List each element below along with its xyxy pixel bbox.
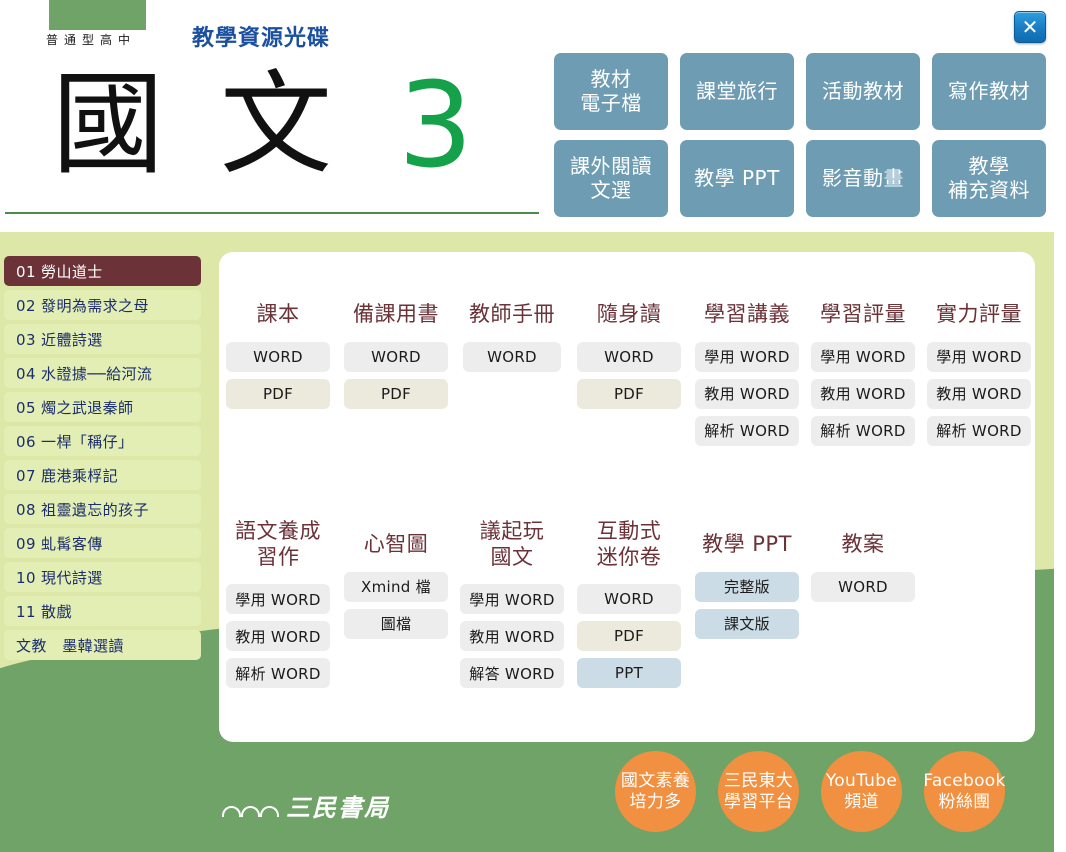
column-buttons: WORD	[805, 572, 921, 602]
file-button-word[interactable]: 解析 WORD	[811, 416, 915, 446]
resource-column-row1-6: 學習評量學用 WORD教用 WORD解析 WORD	[805, 302, 921, 446]
file-button-word[interactable]: WORD	[463, 342, 561, 372]
brand-subtitle: 普通型高中	[46, 31, 150, 48]
resource-column-row1-5: 學習講義學用 WORD教用 WORD解析 WORD	[689, 302, 805, 446]
topnav-button-4[interactable]: 寫作教材	[932, 53, 1046, 130]
file-button-word[interactable]: Xmind 檔	[344, 572, 448, 602]
column-buttons: 學用 WORD教用 WORD解析 WORD	[689, 342, 805, 446]
file-button-pdf[interactable]: PDF	[344, 379, 448, 409]
topnav-button-5[interactable]: 課外閱讀 文選	[554, 140, 668, 217]
topnav-button-2[interactable]: 課堂旅行	[680, 53, 794, 130]
resource-column-row2-2: 心智圖Xmind 檔圖檔	[337, 532, 455, 688]
file-button-word[interactable]: 解析 WORD	[226, 658, 330, 688]
file-button-ppt[interactable]: 完整版	[695, 572, 799, 602]
lesson-sidebar: 01 勞山道士02 發明為需求之母03 近體詩選04 水證據──給河流05 燭之…	[4, 256, 201, 664]
resource-column-row1-7: 實力評量學用 WORD教用 WORD解析 WORD	[921, 302, 1037, 446]
subject-volume-number: 3	[398, 66, 473, 184]
column-buttons: 學用 WORD教用 WORD解答 WORD	[455, 584, 569, 688]
sidebar-item-9[interactable]: 09 虬髯客傳	[4, 528, 201, 558]
column-title: 隨身讀	[597, 302, 662, 328]
column-title: 教師手冊	[469, 302, 555, 328]
column-title: 議起玩 國文	[480, 519, 545, 570]
file-button-pdf[interactable]: PDF	[577, 621, 681, 651]
sidebar-item-2[interactable]: 02 發明為需求之母	[4, 290, 201, 320]
file-button-word[interactable]: WORD	[811, 572, 915, 602]
topnav-button-8[interactable]: 教學 補充資料	[932, 140, 1046, 217]
file-button-word[interactable]: 教用 WORD	[927, 379, 1031, 409]
file-button-word[interactable]: WORD	[577, 342, 681, 372]
column-buttons: 完整版課文版	[689, 572, 805, 639]
column-title: 教案	[842, 532, 885, 558]
sidebar-item-10[interactable]: 10 現代詩選	[4, 562, 201, 592]
column-title: 語文養成 習作	[235, 519, 321, 570]
file-button-word[interactable]: 學用 WORD	[927, 342, 1031, 372]
sidebar-item-8[interactable]: 08 祖靈遺忘的孩子	[4, 494, 201, 524]
resource-column-row2-6: 教案WORD	[805, 532, 921, 688]
column-buttons: WORDPDF	[569, 342, 689, 409]
file-button-ppt[interactable]: PPT	[577, 658, 681, 688]
arches-icon	[222, 795, 280, 817]
file-button-word[interactable]: 學用 WORD	[695, 342, 799, 372]
column-title: 互動式 迷你卷	[597, 519, 662, 570]
file-button-word[interactable]: 學用 WORD	[460, 584, 564, 614]
file-button-word[interactable]: 解答 WORD	[460, 658, 564, 688]
file-button-word[interactable]: 教用 WORD	[226, 621, 330, 651]
brand-color-block	[49, 0, 146, 30]
column-title: 學習評量	[820, 302, 906, 328]
subject-char-2: 文	[220, 69, 332, 181]
header: 普通型高中 教學資源光碟 國 文 3 ✕ 教材 電子檔課堂旅行活動教材寫作教材課…	[0, 0, 1066, 232]
column-buttons: Xmind 檔圖檔	[337, 572, 455, 639]
file-button-word[interactable]: WORD	[577, 584, 681, 614]
resource-column-row1-3: 教師手冊WORD	[455, 302, 569, 446]
publisher-name: 三民書局	[286, 788, 390, 823]
file-button-word[interactable]: 學用 WORD	[811, 342, 915, 372]
file-button-word[interactable]: 教用 WORD	[811, 379, 915, 409]
topnav-button-1[interactable]: 教材 電子檔	[554, 53, 668, 130]
column-buttons: WORD	[455, 342, 569, 372]
file-button-word[interactable]: WORD	[226, 342, 330, 372]
resource-row-2: 語文養成 習作學用 WORD教用 WORD解析 WORD心智圖Xmind 檔圖檔…	[219, 532, 921, 688]
column-title: 備課用書	[353, 302, 439, 328]
sidebar-item-6[interactable]: 06 一桿「稱仔」	[4, 426, 201, 456]
close-button[interactable]: ✕	[1014, 11, 1046, 43]
column-title: 心智圖	[364, 532, 429, 558]
resource-row-1: 課本WORDPDF備課用書WORDPDF教師手冊WORD隨身讀WORDPDF學習…	[219, 302, 1037, 446]
close-icon: ✕	[1015, 12, 1045, 42]
sidebar-item-1[interactable]: 01 勞山道士	[4, 256, 201, 286]
file-button-word[interactable]: 解析 WORD	[695, 416, 799, 446]
column-title: 課本	[257, 302, 300, 328]
column-buttons: 學用 WORD教用 WORD解析 WORD	[921, 342, 1037, 446]
resource-column-row2-3: 議起玩 國文學用 WORD教用 WORD解答 WORD	[455, 532, 569, 688]
top-navigation: 教材 電子檔課堂旅行活動教材寫作教材課外閱讀 文選教學 PPT影音動畫教學 補充…	[554, 53, 1046, 217]
file-button-word[interactable]: WORD	[344, 342, 448, 372]
topnav-button-6[interactable]: 教學 PPT	[680, 140, 794, 217]
file-button-word[interactable]: 學用 WORD	[226, 584, 330, 614]
column-title: 教學 PPT	[702, 532, 792, 558]
resource-column-row1-1: 課本WORDPDF	[219, 302, 337, 446]
sidebar-item-3[interactable]: 03 近體詩選	[4, 324, 201, 354]
sidebar-item-12[interactable]: 文教 墨韓選讀	[4, 630, 201, 660]
column-buttons: WORDPDF	[219, 342, 337, 409]
subject-heading: 國 文 3	[52, 60, 473, 190]
file-button-ppt[interactable]: 課文版	[695, 609, 799, 639]
file-button-word[interactable]: 解析 WORD	[927, 416, 1031, 446]
header-divider	[5, 212, 539, 214]
publisher-logo: 三民書局	[222, 788, 390, 823]
resource-column-row2-4: 互動式 迷你卷WORDPDFPPT	[569, 532, 689, 688]
file-button-pdf[interactable]: PDF	[226, 379, 330, 409]
topnav-button-7[interactable]: 影音動畫	[806, 140, 920, 217]
subject-char-1: 國	[52, 69, 164, 181]
column-title: 學習講義	[704, 302, 790, 328]
file-button-word[interactable]: 教用 WORD	[460, 621, 564, 651]
footer-circle-button-3[interactable]: YouTube 頻道	[821, 751, 902, 832]
file-button-pdf[interactable]: PDF	[577, 379, 681, 409]
background-right-margin	[1054, 232, 1066, 852]
sidebar-item-7[interactable]: 07 鹿港乘桴記	[4, 460, 201, 490]
sidebar-item-11[interactable]: 11 散戲	[4, 596, 201, 626]
column-buttons: WORDPDF	[337, 342, 455, 409]
resource-column-row2-1: 語文養成 習作學用 WORD教用 WORD解析 WORD	[219, 532, 337, 688]
footer-circle-button-2[interactable]: 三民東大 學習平台	[718, 751, 799, 832]
column-title: 實力評量	[936, 302, 1022, 328]
app-title: 教學資源光碟	[192, 20, 330, 52]
footer-circle-button-1[interactable]: 國文素養 培力多	[615, 751, 696, 832]
file-button-word[interactable]: 圖檔	[344, 609, 448, 639]
column-buttons: 學用 WORD教用 WORD解析 WORD	[219, 584, 337, 688]
footer-link-circles: 國文素養 培力多三民東大 學習平台YouTube 頻道Facebook 粉絲團	[615, 751, 1005, 832]
file-button-word[interactable]: 教用 WORD	[695, 379, 799, 409]
column-buttons: 學用 WORD教用 WORD解析 WORD	[805, 342, 921, 446]
resource-panel: 課本WORDPDF備課用書WORDPDF教師手冊WORD隨身讀WORDPDF學習…	[219, 252, 1035, 742]
resource-column-row1-2: 備課用書WORDPDF	[337, 302, 455, 446]
sidebar-item-5[interactable]: 05 燭之武退秦師	[4, 392, 201, 422]
resource-column-row2-5: 教學 PPT完整版課文版	[689, 532, 805, 688]
column-buttons: WORDPDFPPT	[569, 584, 689, 688]
app-window: 普通型高中 教學資源光碟 國 文 3 ✕ 教材 電子檔課堂旅行活動教材寫作教材課…	[0, 0, 1066, 852]
footer-circle-button-4[interactable]: Facebook 粉絲團	[924, 751, 1005, 832]
sidebar-item-4[interactable]: 04 水證據──給河流	[4, 358, 201, 388]
resource-column-row1-4: 隨身讀WORDPDF	[569, 302, 689, 446]
topnav-button-3[interactable]: 活動教材	[806, 53, 920, 130]
